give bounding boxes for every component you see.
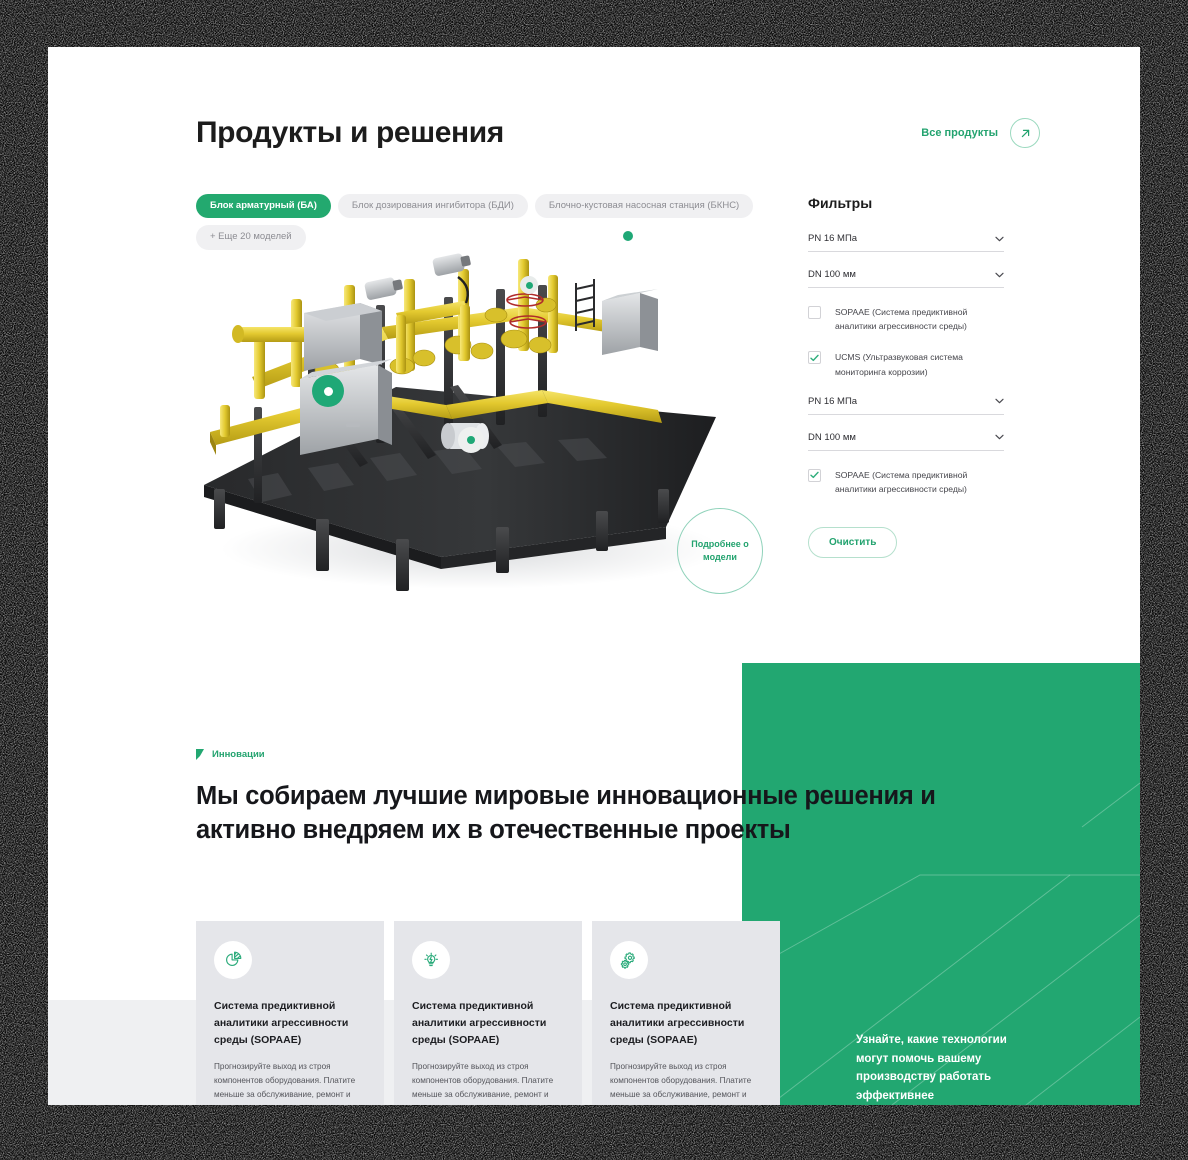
filter-checkbox-sopaae-2[interactable]: SOPAAE (Система предиктивной аналитики а… (808, 468, 1004, 496)
check-icon (810, 354, 819, 362)
gears-icon (610, 941, 648, 979)
card-title: Система предиктивной аналитики агрессивн… (610, 998, 762, 1049)
innovations-tag-label: Инновации (212, 749, 265, 760)
checkbox-box[interactable] (808, 469, 821, 482)
filter-select-value: DN 100 мм (808, 432, 856, 443)
hotspot-marker[interactable] (520, 276, 538, 294)
innovation-card[interactable]: Система предиктивной аналитики агрессивн… (394, 921, 582, 1105)
page-header: Продукты и решения Все продукты (196, 110, 1040, 156)
all-products-label: Все продукты (921, 127, 998, 139)
clear-filters-button[interactable]: Очистить (808, 527, 897, 558)
cta-green-panel: Узнайте, какие технологии могут помочь в… (742, 663, 1140, 1105)
filter-select-dn-2[interactable]: DN 100 мм (808, 432, 1004, 451)
cta-text: Узнайте, какие технологии могут помочь в… (856, 1031, 1036, 1105)
chevron-down-icon (995, 236, 1004, 242)
hotspot-marker[interactable] (623, 231, 633, 241)
filter-checkbox-label: UCMS (Ультразвуковая система мониторинга… (835, 350, 1004, 378)
hotspot-marker[interactable] (312, 375, 344, 407)
card-body: Прогнозируйте выход из строя компонентов… (610, 1060, 762, 1105)
flag-icon (196, 749, 205, 760)
filter-checkbox-label: SOPAAE (Система предиктивной аналитики а… (835, 305, 1004, 333)
filter-select-dn-1[interactable]: DN 100 мм (808, 269, 1004, 288)
filter-select-pn-1[interactable]: PN 16 МПа (808, 233, 1004, 252)
chevron-down-icon (995, 434, 1004, 440)
checkbox-box[interactable] (808, 351, 821, 364)
filter-checkbox-ucms[interactable]: UCMS (Ультразвуковая система мониторинга… (808, 350, 1004, 378)
filters-panel: Фильтры PN 16 МПа DN 100 мм SOPAAE (Сист… (808, 195, 1004, 558)
cabinet-right (576, 279, 658, 355)
card-title: Система предиктивной аналитики агрессивн… (412, 998, 564, 1049)
innovation-card[interactable]: Система предиктивной аналитики агрессивн… (592, 921, 780, 1105)
card-title: Система предиктивной аналитики агрессивн… (214, 998, 366, 1049)
filter-select-pn-2[interactable]: PN 16 МПа (808, 396, 1004, 415)
control-cabinet-rear (304, 303, 382, 371)
model-chip[interactable]: Блок арматурный (БА) (196, 194, 331, 218)
hotspot-marker[interactable] (458, 427, 484, 453)
filter-select-value: PN 16 МПа (808, 396, 857, 407)
innovations-heading: Мы собираем лучшие мировые инновационные… (196, 780, 936, 848)
checkbox-box[interactable] (808, 306, 821, 319)
lightbulb-icon (412, 941, 450, 979)
model-details-label: Подробнее о модели (691, 538, 749, 564)
model-chip[interactable]: Блочно-кустовая насосная станция (БКНС) (535, 194, 753, 218)
page-canvas: Продукты и решения Все продукты Блок арм… (48, 47, 1140, 1105)
valve-actuators (364, 251, 472, 303)
innovations-tag: Инновации (196, 749, 265, 760)
check-icon (810, 471, 819, 479)
chevron-down-icon (995, 398, 1004, 404)
filter-checkbox-label: SOPAAE (Система предиктивной аналитики а… (835, 468, 1004, 496)
filters-title: Фильтры (808, 195, 1004, 211)
product-3d-viewer[interactable]: Подробнее о модели (196, 227, 776, 607)
card-body: Прогнозируйте выход из строя компонентов… (214, 1060, 366, 1105)
model-chip[interactable]: Блок дозирования ингибитора (БДИ) (338, 194, 528, 218)
filter-select-value: PN 16 МПа (808, 233, 857, 244)
model-details-button[interactable]: Подробнее о модели (677, 508, 763, 594)
innovation-cards: Система предиктивной аналитики агрессивн… (196, 921, 780, 1105)
pie-chart-icon (214, 941, 252, 979)
arrow-up-right-icon[interactable] (1010, 118, 1040, 148)
chevron-down-icon (995, 272, 1004, 278)
innovation-card[interactable]: Система предиктивной аналитики агрессивн… (196, 921, 384, 1105)
card-body: Прогнозируйте выход из строя компонентов… (412, 1060, 564, 1105)
page-title: Продукты и решения (196, 116, 504, 150)
all-products-link[interactable]: Все продукты (921, 118, 1040, 148)
filter-select-value: DN 100 мм (808, 269, 856, 280)
filter-checkbox-sopaae-1[interactable]: SOPAAE (Система предиктивной аналитики а… (808, 305, 1004, 333)
